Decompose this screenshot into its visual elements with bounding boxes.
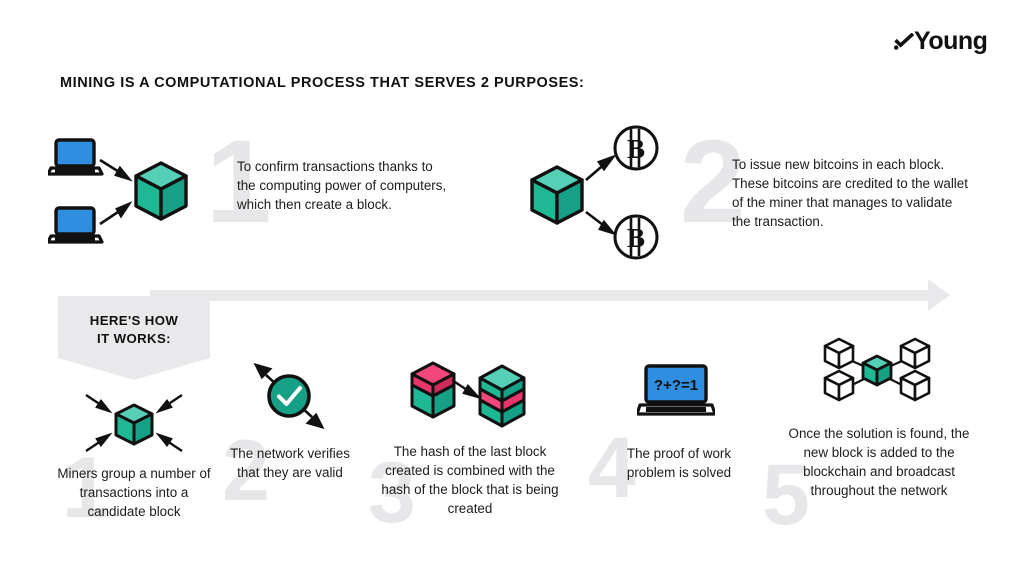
laptop-icon	[48, 140, 102, 174]
bitcoin-icon: B	[615, 127, 657, 169]
illustration-two-laptops-to-cube	[48, 132, 208, 250]
check-circle-icon	[269, 376, 309, 416]
cube-icon	[825, 371, 853, 400]
long-right-arrow-icon	[150, 290, 936, 301]
svg-text:B: B	[627, 223, 645, 253]
cube-icon	[412, 363, 454, 417]
check-y-logo-icon	[894, 33, 916, 51]
brand-name: Young	[914, 27, 987, 55]
step-4-text: The proof of work problem is solved	[608, 444, 750, 482]
cube-icon	[863, 356, 891, 385]
banner-line-1: HERE'S HOW	[58, 312, 210, 330]
illustration-hash-blocks	[408, 356, 528, 438]
arrow-icon	[100, 160, 129, 224]
step-1-text: Miners group a number of transactions in…	[50, 464, 218, 521]
purpose-1-text: To confirm transactions thanks to the co…	[237, 157, 449, 214]
cube-icon	[136, 163, 186, 219]
laptop-icon	[48, 208, 102, 242]
page-title: MINING IS A COMPUTATIONAL PROCESS THAT S…	[60, 75, 584, 91]
layered-block-icon	[480, 366, 524, 426]
cube-icon	[532, 167, 582, 223]
brand-logo: Young	[895, 24, 995, 58]
svg-text:B: B	[627, 134, 645, 164]
illustration-cube-to-two-bitcoins: B B	[524, 124, 664, 260]
step-3-text: The hash of the last block created is co…	[375, 442, 565, 518]
cube-icon	[901, 371, 929, 400]
long-right-arrow-head-icon	[928, 279, 950, 311]
banner-pointer	[58, 358, 210, 380]
banner-label: HERE'S HOW IT WORKS:	[58, 312, 210, 348]
illustration-laptop-equation: ?+?=1	[637, 363, 715, 419]
banner-line-2: IT WORKS:	[58, 330, 210, 348]
cube-icon	[116, 405, 152, 444]
infographic-canvas: Young MINING IS A COMPUTATIONAL PROCESS …	[0, 0, 1024, 576]
illustration-blockchain-network	[822, 335, 932, 407]
step-2-text: The network verifies that they are valid	[224, 444, 356, 482]
cube-icon	[825, 339, 853, 368]
arrow-icon	[586, 157, 613, 233]
purpose-2-text: To issue new bitcoins in each block. The…	[732, 155, 972, 231]
cube-icon	[901, 339, 929, 368]
arrow-icon	[452, 380, 478, 397]
bitcoin-icon: B	[615, 216, 657, 258]
laptop-screen-text: ?+?=1	[654, 377, 698, 394]
step-5-text: Once the solution is found, the new bloc…	[788, 424, 970, 500]
brand-name-wrap: Young	[895, 29, 987, 54]
